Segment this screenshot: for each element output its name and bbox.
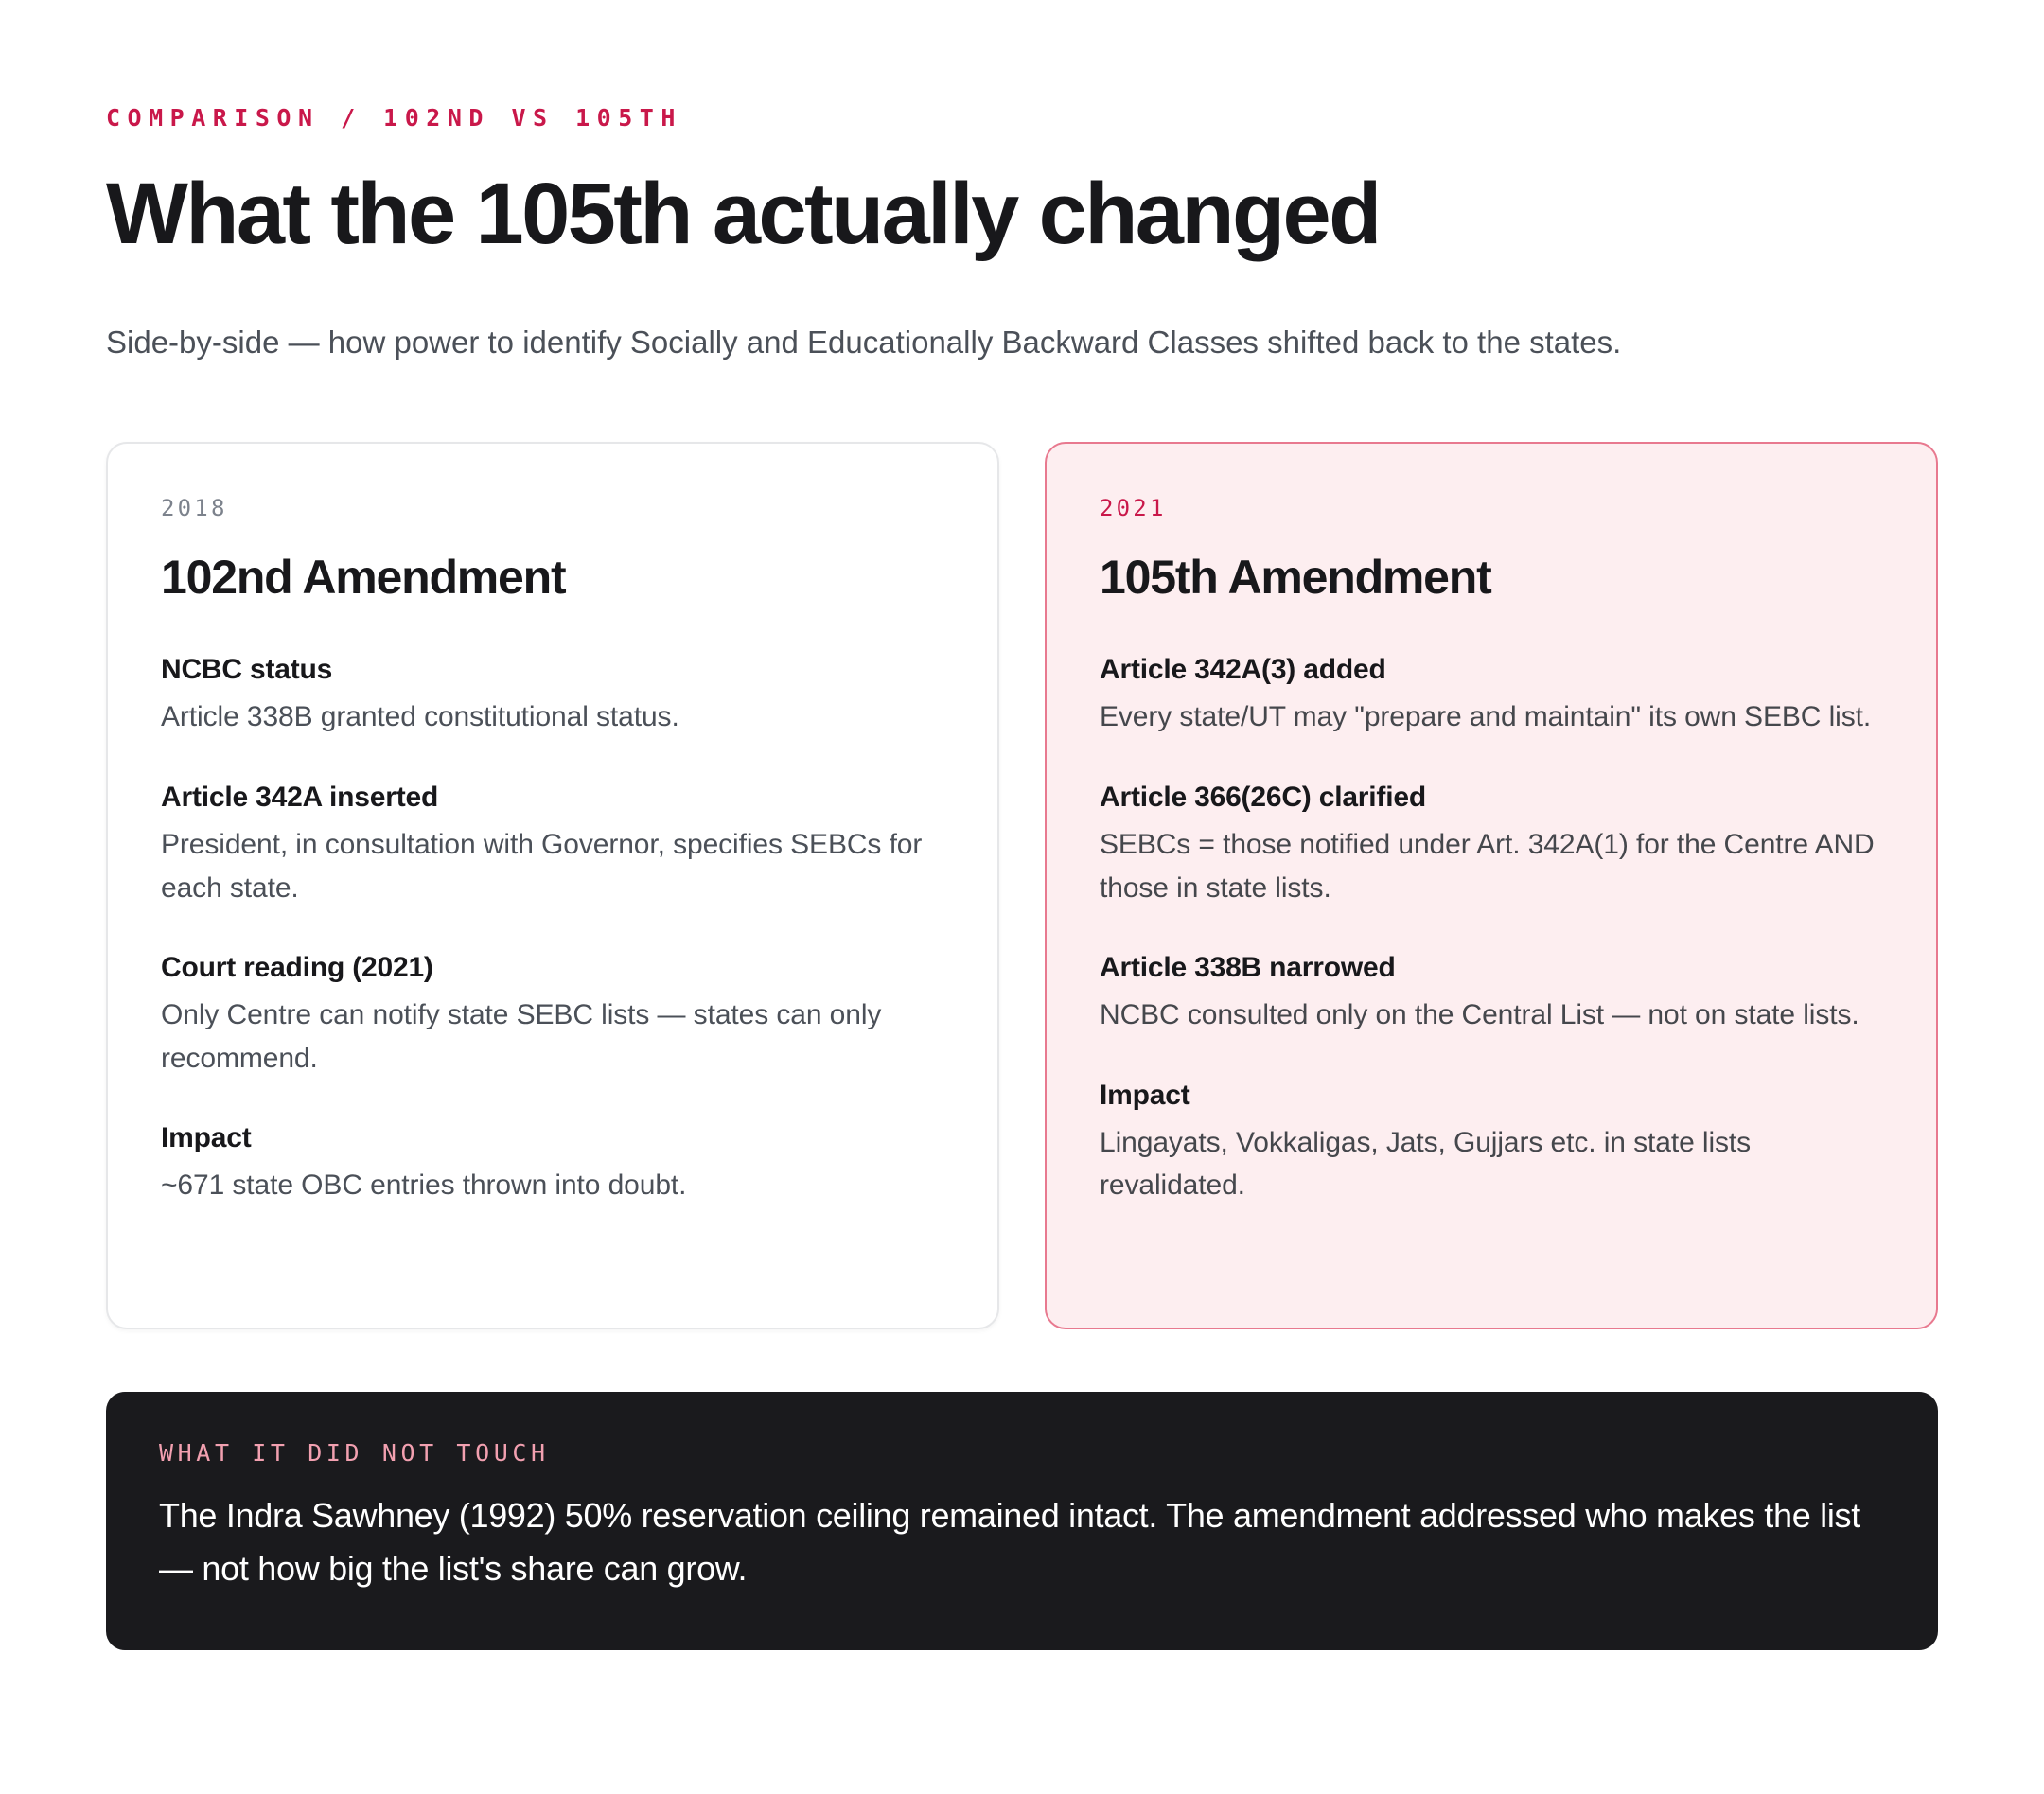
row-label: Article 366(26C) clarified [1100, 779, 1883, 816]
row-label: Court reading (2021) [161, 949, 944, 986]
row-text: Article 338B granted constitutional stat… [161, 695, 944, 739]
card-row: Article 342A inserted President, in cons… [161, 779, 944, 909]
row-label: Impact [161, 1119, 944, 1156]
eyebrow-label: COMPARISON / 102ND VS 105TH [106, 0, 1938, 130]
card-title: 102nd Amendment [161, 552, 944, 604]
row-text: President, in consultation with Governor… [161, 823, 944, 909]
row-label: Article 342A(3) added [1100, 651, 1883, 688]
banner-text: The Indra Sawhney (1992) 50% reservation… [159, 1489, 1885, 1595]
card-year-label: 2021 [1100, 497, 1883, 519]
row-text: Every state/UT may "prepare and maintain… [1100, 695, 1883, 739]
card-rows: NCBC status Article 338B granted constit… [161, 651, 944, 1207]
what-it-did-not-touch-banner: WHAT IT DID NOT TOUCH The Indra Sawhney … [106, 1392, 1938, 1650]
card-year-label: 2018 [161, 497, 944, 519]
row-label: Article 338B narrowed [1100, 949, 1883, 986]
page-title: What the 105th actually changed [106, 169, 1938, 260]
row-text: Lingayats, Vokkaligas, Jats, Gujjars etc… [1100, 1121, 1883, 1207]
page-subtitle: Side-by-side — how power to identify Soc… [106, 318, 1696, 366]
card-105th-amendment: 2021 105th Amendment Article 342A(3) add… [1045, 442, 1938, 1329]
row-text: Only Centre can notify state SEBC lists … [161, 994, 944, 1080]
card-row: Court reading (2021) Only Centre can not… [161, 949, 944, 1080]
card-rows: Article 342A(3) added Every state/UT may… [1100, 651, 1883, 1207]
card-row: Impact ~671 state OBC entries thrown int… [161, 1119, 944, 1207]
card-102nd-amendment: 2018 102nd Amendment NCBC status Article… [106, 442, 999, 1329]
card-row: Impact Lingayats, Vokkaligas, Jats, Gujj… [1100, 1077, 1883, 1207]
row-label: NCBC status [161, 651, 944, 688]
row-label: Impact [1100, 1077, 1883, 1114]
banner-label: WHAT IT DID NOT TOUCH [159, 1441, 1885, 1465]
row-label: Article 342A inserted [161, 779, 944, 816]
row-text: NCBC consulted only on the Central List … [1100, 994, 1883, 1037]
card-row: Article 342A(3) added Every state/UT may… [1100, 651, 1883, 739]
card-row: Article 338B narrowed NCBC consulted onl… [1100, 949, 1883, 1037]
card-title: 105th Amendment [1100, 552, 1883, 604]
comparison-page: COMPARISON / 102ND VS 105TH What the 105… [0, 0, 2044, 1794]
comparison-cards: 2018 102nd Amendment NCBC status Article… [106, 442, 1938, 1329]
card-row: NCBC status Article 338B granted constit… [161, 651, 944, 739]
card-row: Article 366(26C) clarified SEBCs = those… [1100, 779, 1883, 909]
row-text: ~671 state OBC entries thrown into doubt… [161, 1164, 944, 1207]
row-text: SEBCs = those notified under Art. 342A(1… [1100, 823, 1883, 909]
